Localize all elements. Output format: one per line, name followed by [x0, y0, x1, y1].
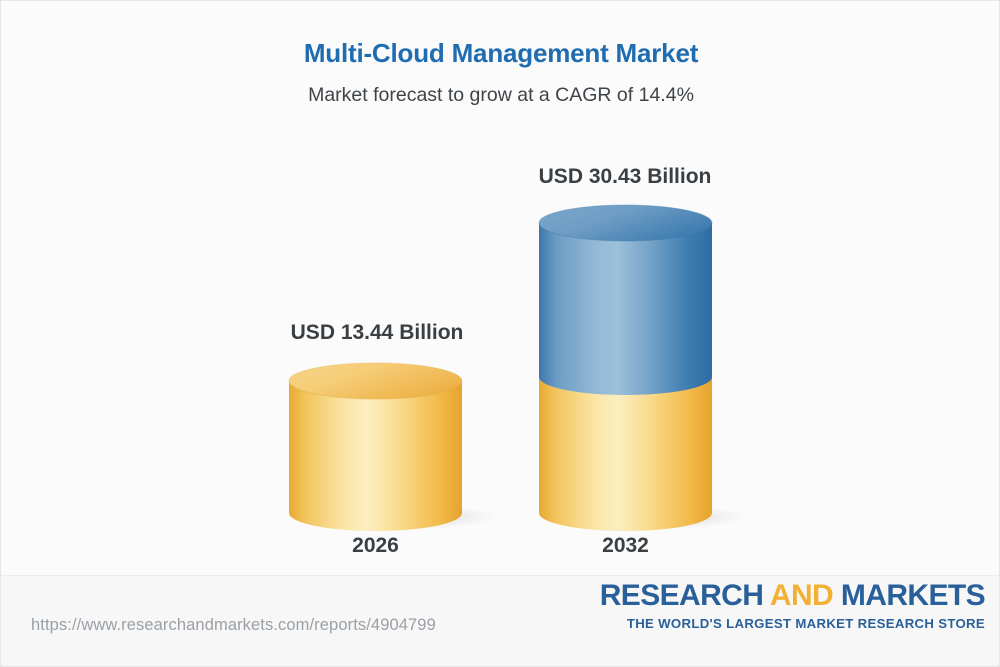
category-label-2026: 2026 [273, 534, 478, 558]
bars-svg [1, 1, 1000, 601]
report-url[interactable]: https://www.researchandmarkets.com/repor… [31, 616, 436, 635]
chart-canvas: Multi-Cloud Management Market Market for… [0, 0, 1000, 667]
plot-area: USD 13.44 Billion USD 30.43 Billion [1, 1, 1000, 601]
logo-tagline: THE WORLD'S LARGEST MARKET RESEARCH STOR… [600, 616, 985, 631]
category-label-2032: 2032 [523, 534, 728, 558]
bar-cylinder-2032 [539, 205, 712, 531]
logo-wordmark: RESEARCH AND MARKETS [600, 581, 985, 611]
research-and-markets-logo[interactable]: RESEARCH AND MARKETS THE WORLD'S LARGEST… [600, 581, 985, 631]
bar-cylinder-2026 [289, 363, 462, 531]
logo-word-research: RESEARCH [600, 579, 770, 612]
logo-word-and: AND [770, 579, 833, 612]
footer: https://www.researchandmarkets.com/repor… [1, 575, 1000, 666]
logo-word-markets: MARKETS [833, 579, 985, 612]
